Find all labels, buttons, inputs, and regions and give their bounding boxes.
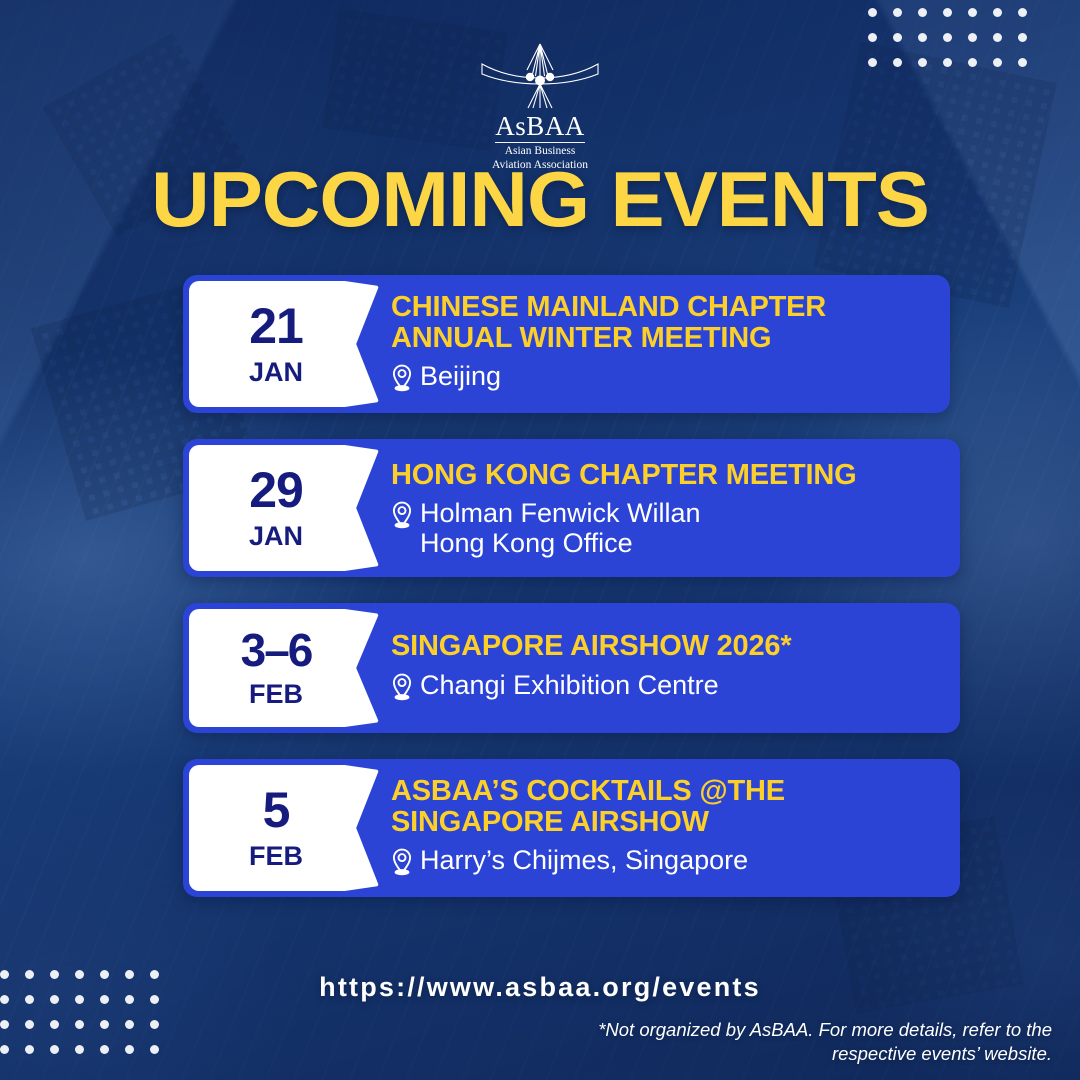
asbaa-logo: AsBAA Asian Business Aviation Associatio… (450, 40, 630, 172)
decorative-dot (918, 8, 927, 17)
event-day: 5 (263, 786, 290, 835)
event-day: 3–6 (241, 628, 312, 673)
decorative-dot (868, 8, 877, 17)
decorative-dot (125, 1045, 134, 1054)
decorative-dot (50, 1045, 59, 1054)
event-card[interactable]: 5FEBASBAA’S COCKTAILS @THE SINGAPORE AIR… (183, 759, 960, 897)
decorative-dot (918, 58, 927, 67)
event-list: 21JANCHINESE MAINLAND CHAPTER ANNUAL WIN… (183, 275, 973, 923)
decorative-dot (75, 1045, 84, 1054)
location-pin-icon (391, 498, 413, 535)
decorative-dot (893, 8, 902, 17)
decorative-dot (993, 8, 1002, 17)
decorative-dot (25, 1045, 34, 1054)
poster-canvas: AsBAA Asian Business Aviation Associatio… (0, 0, 1080, 1080)
decorative-dot (150, 1020, 159, 1029)
decorative-dot (75, 1020, 84, 1029)
decorative-dot (968, 8, 977, 17)
decorative-dot (943, 8, 952, 17)
event-title: CHINESE MAINLAND CHAPTER ANNUAL WINTER M… (391, 292, 932, 355)
decorative-dot (1018, 33, 1027, 42)
decorative-dot (1018, 58, 1027, 67)
page-title: UPCOMING EVENTS (0, 160, 1080, 238)
decorative-dot (100, 1020, 109, 1029)
event-month: JAN (249, 359, 303, 386)
event-title: ASBAA’S COCKTAILS @THE SINGAPORE AIRSHOW (391, 776, 942, 839)
event-details: CHINESE MAINLAND CHAPTER ANNUAL WINTER M… (379, 275, 950, 413)
decorative-dot (0, 1020, 9, 1029)
decorative-dot (100, 1045, 109, 1054)
location-pin-icon (391, 670, 413, 707)
disclaimer-note: *Not organized by AsBAA. For more detail… (532, 1018, 1052, 1067)
decorative-dot (150, 1045, 159, 1054)
events-url-link[interactable]: https://www.asbaa.org/events (0, 972, 1080, 1003)
logo-divider (495, 142, 585, 143)
decorative-dot (893, 33, 902, 42)
decorative-dot (943, 58, 952, 67)
event-month: FEB (249, 843, 303, 870)
event-card[interactable]: 29JANHONG KONG CHAPTER MEETINGHolman Fen… (183, 439, 960, 577)
event-title: HONG KONG CHAPTER MEETING (391, 460, 942, 491)
decorative-dot (125, 1020, 134, 1029)
decorative-dot (25, 1020, 34, 1029)
event-location-text: Harry’s Chijmes, Singapore (420, 845, 748, 875)
logo-wordmark: AsBAA (450, 113, 630, 140)
event-day: 21 (249, 302, 303, 351)
event-date-badge: 5FEB (189, 765, 379, 891)
event-location-text: Changi Exhibition Centre (420, 670, 719, 700)
event-card[interactable]: 21JANCHINESE MAINLAND CHAPTER ANNUAL WIN… (183, 275, 950, 413)
event-details: HONG KONG CHAPTER MEETINGHolman Fenwick … (379, 439, 960, 577)
asbaa-aircraft-logo-icon (472, 40, 608, 112)
decorative-dot (968, 58, 977, 67)
decorative-dot (1018, 8, 1027, 17)
event-date-badge: 29JAN (189, 445, 379, 571)
event-location-text: Holman Fenwick WillanHong Kong Office (420, 498, 701, 558)
event-month: JAN (249, 523, 303, 550)
location-pin-icon (391, 845, 413, 882)
event-location-text: Beijing (420, 361, 501, 391)
event-card[interactable]: 3–6FEBSINGAPORE AIRSHOW 2026*Changi Exhi… (183, 603, 960, 733)
event-day: 29 (249, 466, 303, 515)
event-title: SINGAPORE AIRSHOW 2026* (391, 631, 942, 662)
event-location: Harry’s Chijmes, Singapore (391, 845, 942, 882)
disclaimer-line-1: *Not organized by AsBAA. For more detail… (598, 1019, 1052, 1040)
dot-grid-top-right (868, 8, 1048, 88)
event-details: ASBAA’S COCKTAILS @THE SINGAPORE AIRSHOW… (379, 759, 960, 897)
event-details: SINGAPORE AIRSHOW 2026*Changi Exhibition… (379, 603, 960, 733)
decorative-dot (968, 33, 977, 42)
event-date-badge: 21JAN (189, 281, 379, 407)
event-location: Changi Exhibition Centre (391, 670, 942, 707)
event-location: Beijing (391, 361, 932, 398)
event-date-badge: 3–6FEB (189, 609, 379, 727)
decorative-dot (868, 58, 877, 67)
location-pin-icon (391, 361, 413, 398)
decorative-dot (0, 1045, 9, 1054)
event-month: FEB (249, 681, 303, 708)
decorative-dot (918, 33, 927, 42)
decorative-dot (868, 33, 877, 42)
decorative-dot (893, 58, 902, 67)
event-location: Holman Fenwick WillanHong Kong Office (391, 498, 942, 558)
disclaimer-line-2: respective events’ website. (832, 1043, 1052, 1064)
decorative-dot (993, 58, 1002, 67)
decorative-dot (50, 1020, 59, 1029)
decorative-dot (943, 33, 952, 42)
decorative-dot (993, 33, 1002, 42)
